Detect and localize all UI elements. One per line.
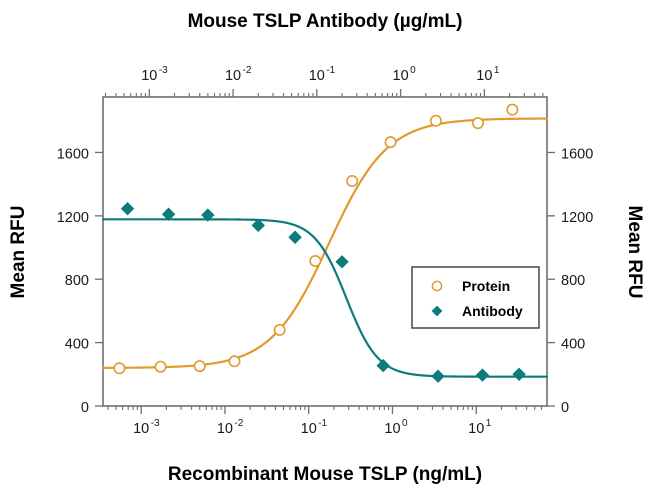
- data-point-protein-5: [310, 256, 320, 266]
- top-tick-label-0: 10-3: [141, 65, 168, 84]
- tick-mantissa: 10: [309, 68, 325, 84]
- bottom-tick-label-0: 10-3: [133, 418, 160, 437]
- data-point-protein-10: [507, 104, 517, 114]
- data-point-protein-6: [347, 176, 357, 186]
- left-tick-label-4: 1600: [57, 146, 89, 162]
- data-point-protein-8: [431, 116, 441, 126]
- left-axis-title: Mean RFU: [8, 206, 29, 299]
- tick-exponent: -2: [234, 418, 243, 429]
- tick-mantissa: 10: [384, 421, 400, 437]
- tick-mantissa: 10: [468, 421, 484, 437]
- data-point-protein-9: [473, 118, 483, 128]
- data-point-antibody-6: [377, 360, 389, 372]
- top-tick-label-1: 10-2: [225, 65, 252, 84]
- bottom-tick-label-3: 100: [384, 418, 408, 437]
- left-axis-ticks: 040080012001600: [57, 146, 103, 416]
- data-point-protein-1: [155, 362, 165, 372]
- tick-exponent: 0: [410, 65, 416, 76]
- data-point-protein-0: [114, 363, 124, 373]
- left-tick-label-3: 1200: [57, 210, 89, 226]
- tick-exponent: 1: [486, 418, 492, 429]
- top-axis-ticks: 10-310-210-1100101: [106, 65, 543, 97]
- legend-marker-open-circle-icon: [432, 281, 441, 290]
- tick-exponent: 1: [494, 65, 500, 76]
- data-point-antibody-5: [336, 256, 348, 268]
- left-tick-label-1: 400: [65, 337, 89, 353]
- fit-curve-protein: [103, 119, 547, 368]
- tick-exponent: -3: [159, 65, 168, 76]
- right-tick-label-4: 1600: [561, 146, 593, 162]
- tick-mantissa: 10: [301, 421, 317, 437]
- data-point-protein-2: [195, 361, 205, 371]
- tick-mantissa: 10: [393, 68, 409, 84]
- left-tick-label-2: 800: [65, 273, 89, 289]
- dose-response-chart: Mouse TSLP Antibody (µg/mL) Recombinant …: [0, 0, 650, 501]
- bottom-axis-ticks: 10-310-210-1100101: [108, 406, 542, 437]
- legend-label-antibody: Antibody: [462, 303, 523, 319]
- right-axis-ticks: 040080012001600: [547, 146, 593, 416]
- legend-label-protein: Protein: [462, 278, 510, 294]
- data-point-protein-3: [229, 356, 239, 366]
- tick-mantissa: 10: [476, 68, 492, 84]
- tick-exponent: -1: [318, 418, 327, 429]
- tick-exponent: -1: [326, 65, 335, 76]
- data-point-protein-4: [274, 325, 284, 335]
- data-point-antibody-0: [122, 203, 134, 215]
- bottom-axis-title: Recombinant Mouse TSLP (ng/mL): [168, 464, 482, 485]
- top-tick-label-3: 100: [393, 65, 417, 84]
- data-point-antibody-4: [289, 231, 301, 243]
- data-point-antibody-9: [513, 368, 525, 380]
- chart-legend[interactable]: ProteinAntibody: [412, 267, 539, 328]
- top-tick-label-2: 10-1: [309, 65, 336, 84]
- series-layer: [103, 104, 547, 382]
- data-point-protein-7: [385, 137, 395, 147]
- top-tick-label-4: 101: [476, 65, 500, 84]
- right-tick-label-3: 1200: [561, 210, 593, 226]
- right-axis-title: Mean RFU: [624, 206, 645, 299]
- bottom-tick-label-2: 10-1: [301, 418, 328, 437]
- series-protein: [103, 104, 547, 373]
- tick-exponent: -3: [151, 418, 160, 429]
- right-tick-label-2: 800: [561, 273, 585, 289]
- tick-exponent: -2: [243, 65, 252, 76]
- bottom-tick-label-4: 101: [468, 418, 492, 437]
- bottom-tick-label-1: 10-2: [217, 418, 244, 437]
- chart-page: Mouse TSLP Antibody (µg/mL) Recombinant …: [0, 0, 650, 501]
- data-point-antibody-7: [432, 370, 444, 382]
- right-tick-label-1: 400: [561, 337, 585, 353]
- right-tick-label-0: 0: [561, 400, 569, 416]
- left-tick-label-0: 0: [81, 400, 89, 416]
- tick-mantissa: 10: [141, 68, 157, 84]
- tick-mantissa: 10: [217, 421, 233, 437]
- tick-mantissa: 10: [133, 421, 149, 437]
- data-point-antibody-8: [476, 369, 488, 381]
- tick-exponent: 0: [402, 418, 408, 429]
- tick-mantissa: 10: [225, 68, 241, 84]
- top-axis-title: Mouse TSLP Antibody (µg/mL): [188, 11, 463, 32]
